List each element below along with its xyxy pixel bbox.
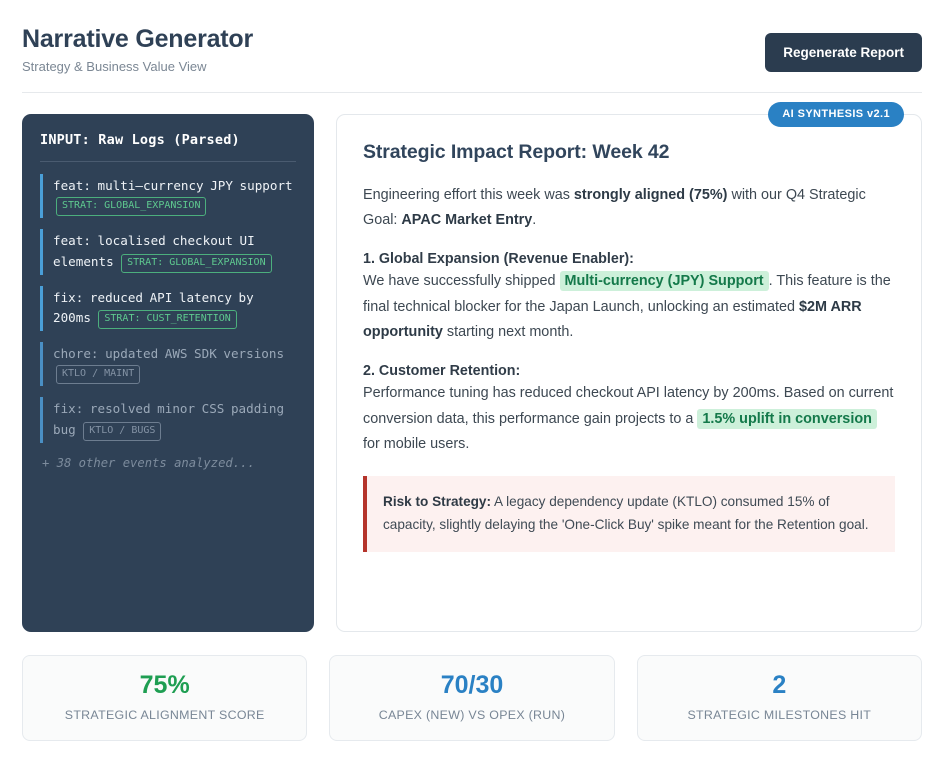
log-entry[interactable]: fix: resolved minor CSS padding bug KTLO… [40,397,296,442]
report-wrapper: AI SYNTHESIS v2.1 Strategic Impact Repor… [336,114,922,632]
regenerate-report-button[interactable]: Regenerate Report [765,33,922,72]
stat-label: STRATEGIC MILESTONES HIT [648,708,911,722]
log-entry[interactable]: feat: multi–currency JPY support STRAT: … [40,174,296,218]
log-entry-tag: STRAT: GLOBAL_EXPANSION [56,197,206,216]
risk-label: Risk to Strategy: [383,494,491,509]
section-2-heading: 2. Customer Retention: [363,363,895,379]
page-root: Narrative Generator Strategy & Business … [0,0,944,741]
stat-value: 2 [648,672,911,700]
log-entry[interactable]: feat: localised checkout UI elements STR… [40,229,296,274]
report-intro-paragraph: Engineering effort this week was strongl… [363,183,895,234]
log-entry[interactable]: fix: reduced API latency by 200ms STRAT:… [40,286,296,331]
section-2-text-2: for mobile users. [363,436,469,452]
stat-label: STRATEGIC ALIGNMENT SCORE [33,708,296,722]
log-entry-text: chore: updated AWS SDK versions [53,346,284,361]
raw-logs-list: feat: multi–currency JPY support STRAT: … [40,174,296,443]
intro-bold-alignment: strongly aligned (75%) [574,187,728,203]
ai-synthesis-badge: AI SYNTHESIS v2.1 [768,102,904,127]
raw-logs-footer: + 38 other events analyzed... [40,456,296,470]
log-entry-tag: STRAT: GLOBAL_EXPANSION [121,254,271,273]
intro-text-1: Engineering effort this week was [363,187,574,203]
section-1-text-3: starting next month. [443,324,573,340]
log-entry-tag: KTLO / MAINT [56,365,140,384]
stat-card: 70/30CAPEX (NEW) VS OPEX (RUN) [329,655,614,742]
page-title: Narrative Generator [22,25,253,54]
main-content: INPUT: Raw Logs (Parsed) feat: multi–cur… [22,114,922,632]
risk-text: Risk to Strategy: A legacy dependency up… [383,490,879,537]
app-header: Narrative Generator Strategy & Business … [22,20,922,93]
section-1-text-1: We have successfully shipped [363,273,560,289]
log-entry-text: feat: multi–currency JPY support [53,178,293,193]
strategic-impact-report-card: Strategic Impact Report: Week 42 Enginee… [336,114,922,632]
risk-callout: Risk to Strategy: A legacy dependency up… [363,476,895,552]
stat-label: CAPEX (NEW) VS OPEX (RUN) [340,708,603,722]
section-1-paragraph: We have successfully shipped Multi-curre… [363,269,895,346]
raw-logs-title: INPUT: Raw Logs (Parsed) [40,132,296,162]
raw-logs-panel: INPUT: Raw Logs (Parsed) feat: multi–cur… [22,114,314,632]
page-subtitle: Strategy & Business Value View [22,59,253,74]
stat-cards-row: 75%STRATEGIC ALIGNMENT SCORE70/30CAPEX (… [22,655,922,742]
log-entry-tag: STRAT: CUST_RETENTION [98,310,236,329]
section-2-paragraph: Performance tuning has reduced checkout … [363,381,895,458]
section-1-heading: 1. Global Expansion (Revenue Enabler): [363,251,895,267]
log-entry-tag: KTLO / BUGS [83,422,161,441]
stat-value: 70/30 [340,672,603,700]
report-title: Strategic Impact Report: Week 42 [363,141,895,164]
section-1-highlight: Multi-currency (JPY) Support [560,271,769,291]
intro-text-3: . [532,212,536,228]
stat-value: 75% [33,672,296,700]
intro-bold-goal: APAC Market Entry [401,212,532,228]
stat-card: 75%STRATEGIC ALIGNMENT SCORE [22,655,307,742]
stat-card: 2STRATEGIC MILESTONES HIT [637,655,922,742]
header-titles: Narrative Generator Strategy & Business … [22,20,253,74]
section-2-highlight: 1.5% uplift in conversion [697,409,877,429]
log-entry[interactable]: chore: updated AWS SDK versions KTLO / M… [40,342,296,386]
